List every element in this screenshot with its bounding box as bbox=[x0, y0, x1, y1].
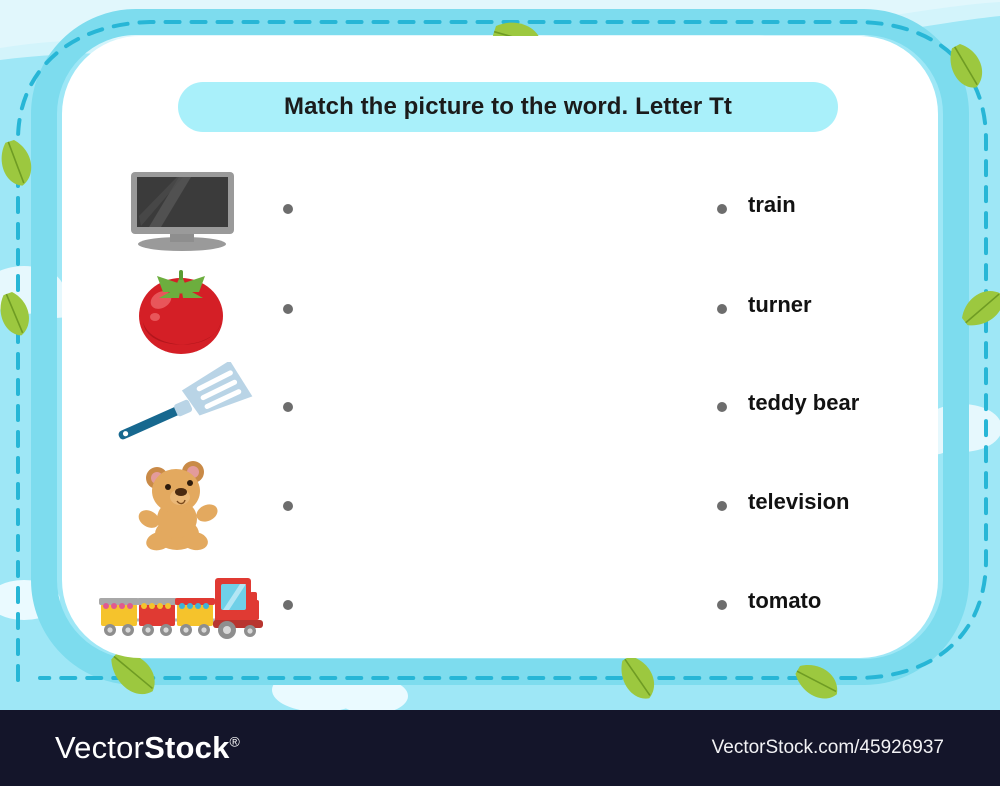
word-label[interactable]: tomato bbox=[748, 588, 821, 614]
watermark-footer: VectorStock® VectorStock.com/45926937 bbox=[0, 710, 1000, 786]
tomato-picture[interactable] bbox=[95, 264, 270, 356]
logo-text-bold: Stock bbox=[144, 730, 229, 765]
page-title: Match the picture to the word. Letter Tt bbox=[284, 93, 732, 121]
train-picture[interactable] bbox=[95, 560, 270, 652]
bear-nose bbox=[175, 488, 187, 496]
train-car-1 bbox=[99, 598, 139, 636]
connector-dot-left[interactable] bbox=[283, 600, 293, 610]
connector-dot-right[interactable] bbox=[717, 204, 727, 214]
connector-dot-left[interactable] bbox=[283, 402, 293, 412]
tomato-highlight-2 bbox=[150, 313, 160, 321]
connector-dot-left[interactable] bbox=[283, 304, 293, 314]
connector-dot-right[interactable] bbox=[717, 402, 727, 412]
television-picture[interactable] bbox=[95, 164, 270, 256]
word-label[interactable]: teddy bear bbox=[748, 390, 859, 416]
worksheet-title-pill: Match the picture to the word. Letter Tt bbox=[178, 82, 838, 132]
bear-eye-left bbox=[165, 484, 171, 490]
connector-dot-left[interactable] bbox=[283, 204, 293, 214]
train-car-2 bbox=[137, 598, 177, 636]
worksheet-page: Match the picture to the word. Letter Tt… bbox=[0, 0, 1000, 786]
train-locomotive bbox=[213, 578, 263, 639]
registered-mark: ® bbox=[230, 734, 241, 750]
worksheet-canvas: Match the picture to the word. Letter Tt… bbox=[0, 0, 1000, 710]
logo-text-light: Vector bbox=[55, 730, 144, 765]
turner-picture[interactable] bbox=[95, 362, 270, 454]
train-car-3 bbox=[175, 598, 215, 636]
word-label[interactable]: turner bbox=[748, 292, 812, 318]
connector-dot-right[interactable] bbox=[717, 501, 727, 511]
tomato-stem bbox=[179, 270, 183, 280]
image-credit: VectorStock.com/45926937 bbox=[712, 737, 944, 759]
word-label[interactable]: train bbox=[748, 192, 796, 218]
connector-dot-right[interactable] bbox=[717, 304, 727, 314]
bear-arm-right bbox=[194, 501, 221, 525]
connector-dot-right[interactable] bbox=[717, 600, 727, 610]
word-label[interactable]: television bbox=[748, 489, 849, 515]
bear-eye-right bbox=[187, 480, 193, 486]
vectorstock-logo: VectorStock® bbox=[55, 730, 240, 766]
connector-dot-left[interactable] bbox=[283, 501, 293, 511]
teddy-bear-picture[interactable] bbox=[95, 461, 270, 553]
